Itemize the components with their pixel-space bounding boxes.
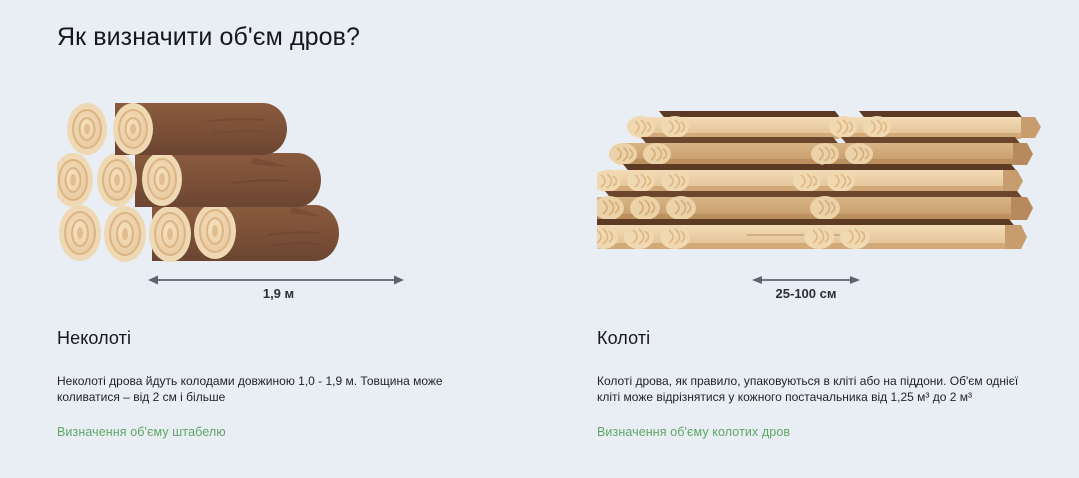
heading-unsplit: Неколоті bbox=[57, 328, 527, 349]
link-volume-split-wood[interactable]: Визначення об'єму колотих дров bbox=[597, 425, 790, 439]
page-title: Як визначити об'єм дров? bbox=[57, 23, 360, 52]
body-unsplit: Неколоті дрова йдуть колодами довжиною 1… bbox=[57, 373, 487, 405]
firewood-stack-icon bbox=[597, 95, 1077, 270]
text-block-unsplit: Неколоті Неколоті дрова йдуть колодами д… bbox=[57, 328, 527, 441]
body-split: Колоті дрова, як правило, упаковуються в… bbox=[597, 373, 1027, 405]
dimension-label-unsplit: 1,9 м bbox=[153, 286, 404, 301]
heading-split: Колоті bbox=[597, 328, 1067, 349]
dimension-split: 25-100 см bbox=[597, 270, 1077, 312]
dimension-label-split: 25-100 см bbox=[752, 286, 860, 301]
dimension-unsplit: 1,9 м bbox=[57, 270, 537, 312]
column-unsplit: 1,9 м Неколоті Неколоті дрова йдуть коло… bbox=[57, 95, 537, 312]
column-split: 25-100 см Колоті Колоті дрова, як правил… bbox=[597, 95, 1077, 312]
log-pile-round-icon bbox=[57, 95, 537, 270]
text-block-split: Колоті Колоті дрова, як правило, упакову… bbox=[597, 328, 1067, 441]
link-volume-stack[interactable]: Визначення об'єму штабелю bbox=[57, 425, 226, 439]
columns-container: 1,9 м Неколоті Неколоті дрова йдуть коло… bbox=[0, 95, 1079, 465]
